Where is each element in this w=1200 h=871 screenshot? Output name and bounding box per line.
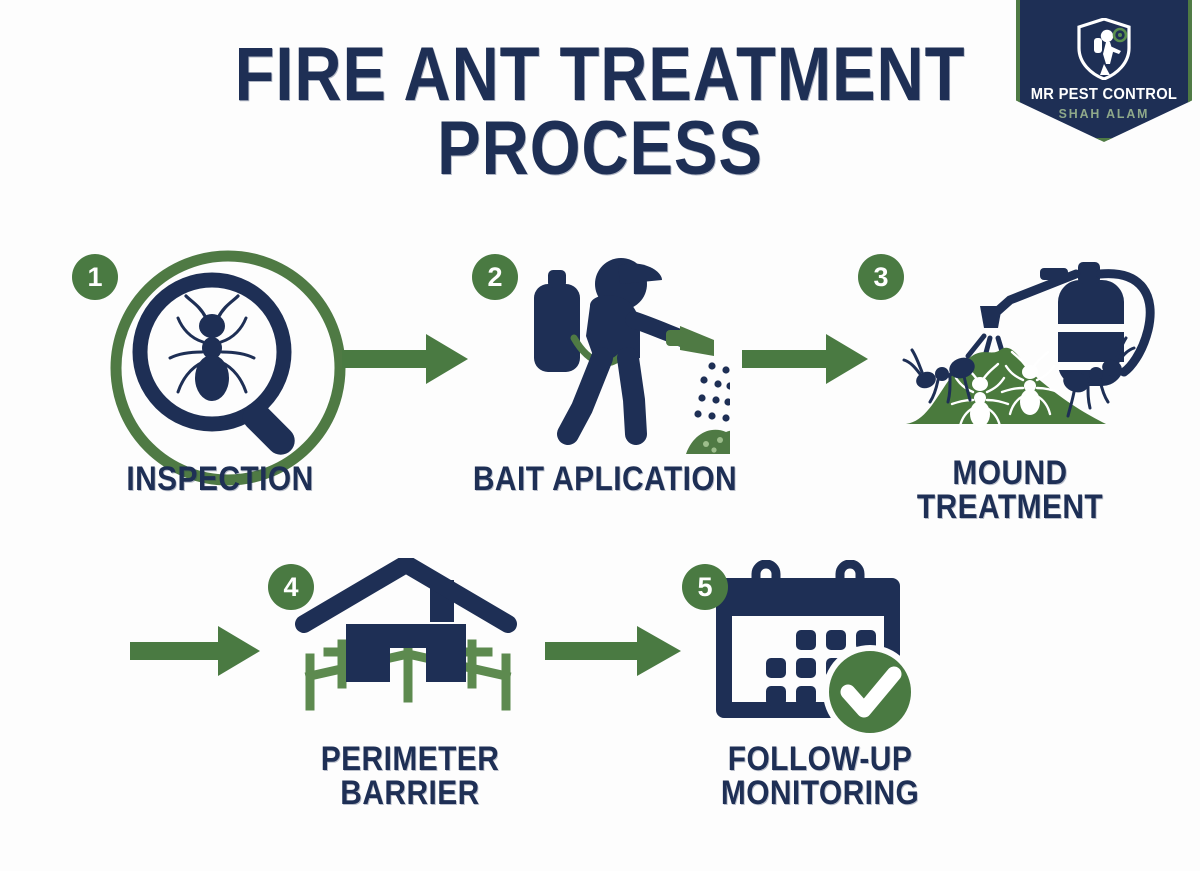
step-4-label: PERIMETER BARRIER: [238, 742, 581, 810]
step-5-follow-up-monitoring[interactable]: 5 FOLLOW-UP MONITORING: [660, 550, 980, 850]
step-5-number-badge: 5: [682, 564, 728, 610]
page-title: FIRE ANT TREATMENT PROCESS: [84, 38, 1116, 187]
pest-control-worker-shield-icon: [1076, 18, 1132, 80]
ant-mound-sprayer-icon: [880, 244, 1160, 454]
step-5-label: FOLLOW-UP MONITORING: [648, 742, 991, 810]
step-4-perimeter-barrier[interactable]: 4 PERIMETER BARRIER: [250, 550, 570, 850]
title-line-2: PROCESS: [84, 112, 1116, 186]
title-line-1: FIRE ANT TREATMENT: [84, 38, 1116, 112]
worker-backpack-sprayer-icon: [490, 248, 730, 468]
logo-location: SHAH ALAM: [1020, 106, 1187, 121]
logo-brand-name: MR PEST CONTROL: [1023, 86, 1185, 104]
step-2-number-badge: 2: [472, 254, 518, 300]
step-2-bait-application[interactable]: 2 BAIT APLICATION: [440, 240, 770, 540]
infographic-canvas: FIRE ANT TREATMENT PROCESS MR PEST CONTR…: [0, 0, 1200, 871]
step-1-label: INSPECTION: [62, 462, 379, 496]
magnifying-glass-ant-icon: [108, 248, 348, 488]
step-3-number-badge: 3: [858, 254, 904, 300]
calendar-check-icon: [708, 560, 928, 740]
step-2-label: BAIT APLICATION: [433, 462, 776, 496]
step-1-inspection[interactable]: 1 INSPECTION: [60, 240, 380, 540]
arrow-row2-lead-in: [128, 620, 262, 682]
step-3-mound-treatment[interactable]: 3 MOUND TREATMENT: [840, 240, 1180, 560]
step-3-label: MOUND TREATMENT: [843, 456, 1177, 524]
house-fence-icon: [280, 558, 530, 738]
step-4-number-badge: 4: [268, 564, 314, 610]
brand-logo-badge[interactable]: MR PEST CONTROL SHAH ALAM: [1016, 0, 1192, 142]
step-1-number-badge: 1: [72, 254, 118, 300]
